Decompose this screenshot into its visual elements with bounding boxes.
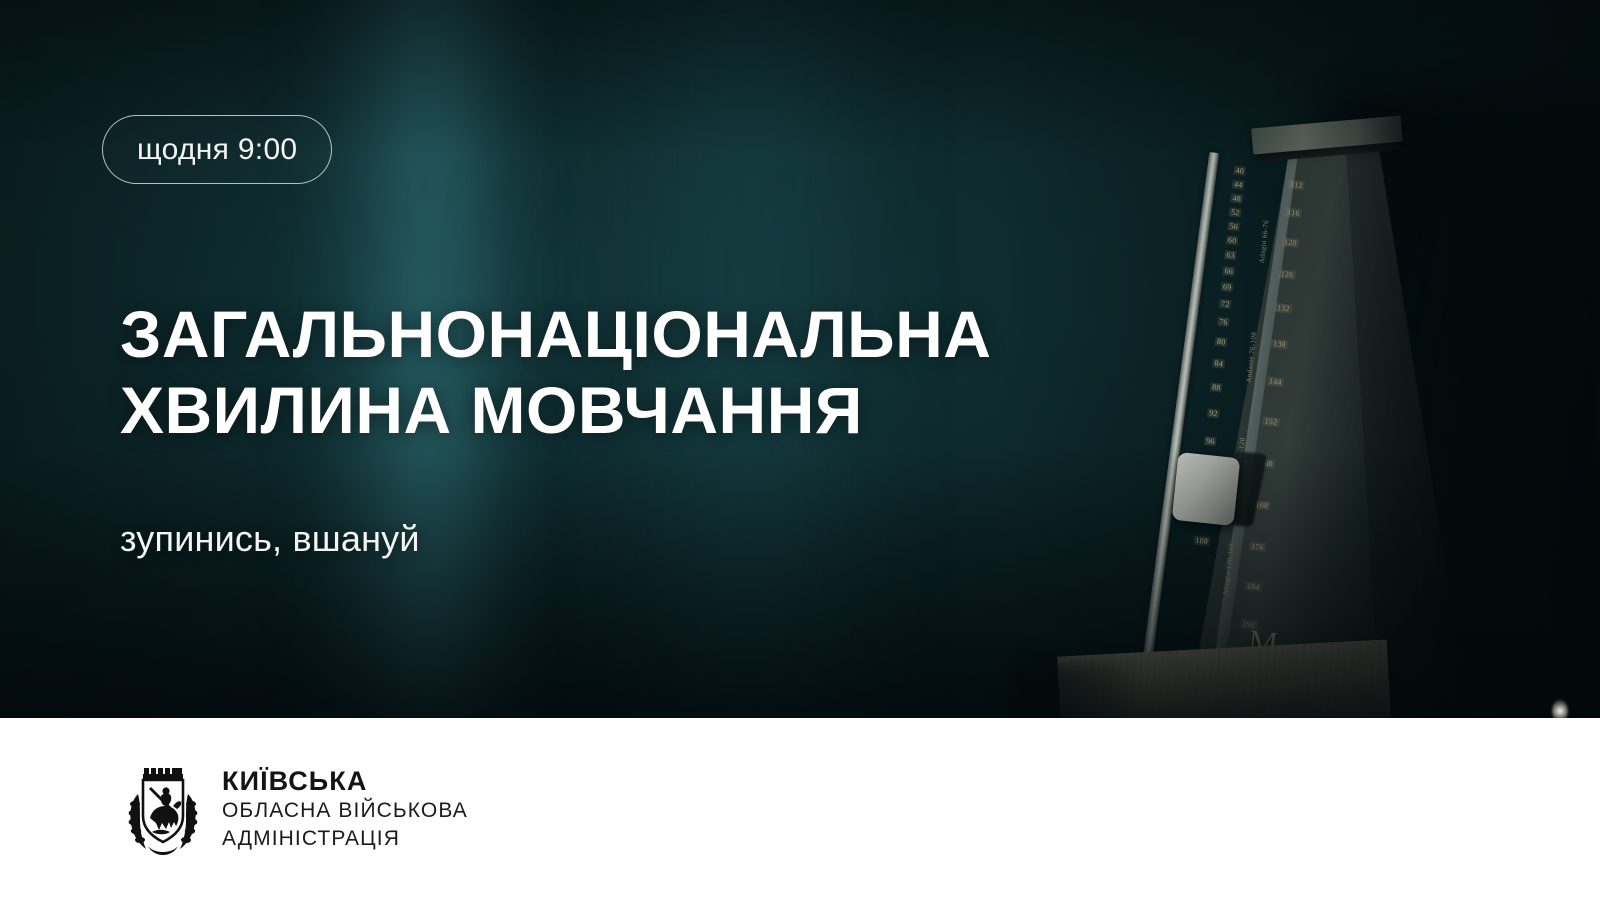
- page-title: ЗАГАЛЬНОНАЦІОНАЛЬНА ХВИЛИНА МОВЧАННЯ: [120, 296, 991, 448]
- footer: КИЇВСЬКА ОБЛАСНА ВІЙСЬКОВА АДМІНІСТРАЦІЯ: [0, 718, 1600, 900]
- page-title-line-2: ХВИЛИНА МОВЧАННЯ: [120, 372, 991, 448]
- organization-name: КИЇВСЬКА ОБЛАСНА ВІЙСЬКОВА АДМІНІСТРАЦІЯ: [222, 765, 468, 853]
- org-name-line-2: ОБЛАСНА ВІЙСЬКОВА: [222, 797, 468, 825]
- kyiv-oblast-coat-of-arms-icon: [126, 760, 200, 858]
- org-name-line-1: КИЇВСЬКА: [222, 765, 468, 797]
- page-title-line-1: ЗАГАЛЬНОНАЦІОНАЛЬНА: [120, 296, 991, 372]
- schedule-badge-label: щодня 9:00: [137, 133, 297, 167]
- background-light-glint: [1552, 700, 1568, 718]
- page-subtitle: зупинись, вшануй: [120, 518, 420, 560]
- poster-root: 40 44 48 52 56 60 63 66 69 72 76 80 84 8…: [0, 0, 1600, 900]
- schedule-badge: щодня 9:00: [102, 115, 332, 184]
- hero-photo: 40 44 48 52 56 60 63 66 69 72 76 80 84 8…: [0, 0, 1600, 718]
- footer-branding: КИЇВСЬКА ОБЛАСНА ВІЙСЬКОВА АДМІНІСТРАЦІЯ: [126, 760, 468, 858]
- org-name-line-3: АДМІНІСТРАЦІЯ: [222, 825, 468, 853]
